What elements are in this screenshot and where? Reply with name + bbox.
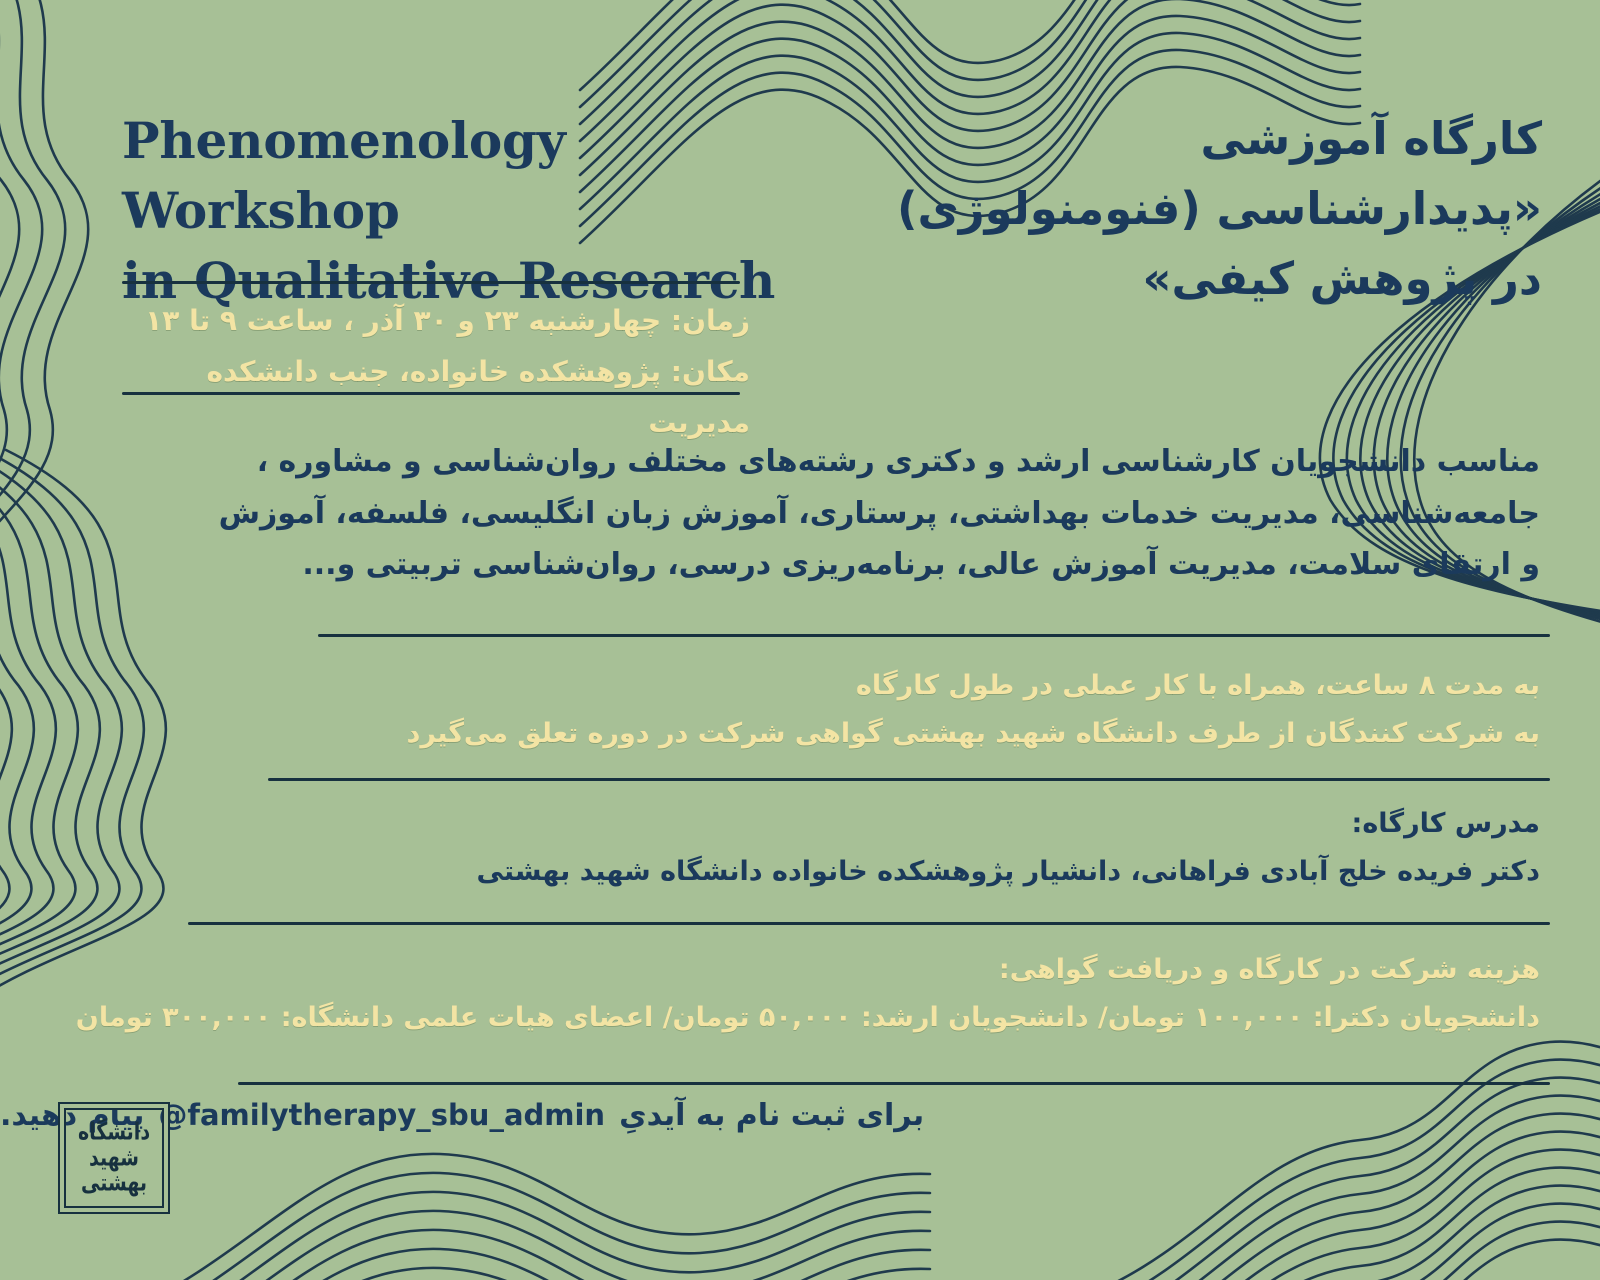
- divider-above-duration: [318, 634, 1550, 637]
- duration-line: به مدت ۸ ساعت، همراه با کار عملی در طول …: [0, 662, 1540, 710]
- divider-above-register: [238, 1082, 1550, 1085]
- audience-line-1: مناسب دانشجویان کارشناسی ارشد و دکتری رش…: [0, 436, 1540, 488]
- university-seal-logo-icon: دانشگاه شهید بهشتی: [58, 1102, 170, 1214]
- registration-block: برای ثبت نام به آیدیِ @familytherapy_sbu…: [0, 1092, 1600, 1140]
- audience-paragraph: مناسب دانشجویان کارشناسی ارشد و دکتری رش…: [0, 436, 1600, 591]
- poster-header: Phenomenology Workshop in Qualitative Re…: [0, 96, 1600, 406]
- seal-line-2: شهید: [78, 1145, 150, 1171]
- certificate-line: به شرکت کنندگان از طرف دانشگاه شهید بهشت…: [0, 710, 1540, 758]
- fee-block: هزینه شرکت در کارگاه و دریافت گواهی: دان…: [0, 946, 1600, 1042]
- fee-label: هزینه شرکت در کارگاه و دریافت گواهی:: [0, 946, 1540, 994]
- duration-certificate-block: به مدت ۸ ساعت، همراه با کار عملی در طول …: [0, 662, 1600, 758]
- divider-above-teacher: [268, 778, 1550, 781]
- instructor-label: مدرس کارگاه:: [0, 800, 1540, 848]
- audience-line-3: و ارتقای سلامت، مدیریت آموزش عالی، برنام…: [0, 539, 1540, 591]
- divider-above-fee: [188, 922, 1550, 925]
- instructor-block: مدرس کارگاه: دکتر فریده خلج آبادی فراهان…: [0, 800, 1600, 896]
- title-persian: کارگاه آموزشی «پدیدارشناسی (فنومنولوژی) …: [802, 104, 1542, 313]
- divider-under-title: [122, 281, 740, 284]
- title-persian-line-2: «پدیدارشناسی (فنومنولوژی): [802, 174, 1542, 244]
- event-time: زمان: چهارشنبه ۲۳ و ۳۰ آذر ، ساعت ۹ تا ۱…: [110, 296, 750, 347]
- telegram-handle[interactable]: @familytherapy_sbu_admin: [158, 1092, 605, 1138]
- divider-under-meta: [122, 392, 740, 395]
- audience-line-2: جامعه‌شناسی، مدیریت خدمات بهداشتی، پرستا…: [0, 488, 1540, 540]
- seal-line-1: دانشگاه: [78, 1120, 150, 1146]
- register-prefix: برای ثبت نام به آیدیِ: [619, 1092, 924, 1140]
- instructor-name: دکتر فریده خلج آبادی فراهانی، دانشیار پژ…: [0, 848, 1540, 896]
- event-place: مکان: پژوهشکده خانواده، جنب دانشکده مدیر…: [110, 347, 750, 449]
- title-persian-line-3: در پژوهش کیفی»: [802, 244, 1542, 314]
- title-english-line-1: Phenomenology Workshop: [122, 106, 822, 246]
- fee-details: دانشجویان دکترا: ۱۰۰,۰۰۰ تومان/ دانشجویا…: [0, 994, 1540, 1042]
- event-meta: زمان: چهارشنبه ۲۳ و ۳۰ آذر ، ساعت ۹ تا ۱…: [110, 296, 750, 449]
- title-english: Phenomenology Workshop in Qualitative Re…: [122, 106, 822, 316]
- seal-line-3: بهشتی: [78, 1171, 150, 1197]
- poster-canvas: Phenomenology Workshop in Qualitative Re…: [0, 0, 1600, 1280]
- title-persian-line-1: کارگاه آموزشی: [802, 104, 1542, 174]
